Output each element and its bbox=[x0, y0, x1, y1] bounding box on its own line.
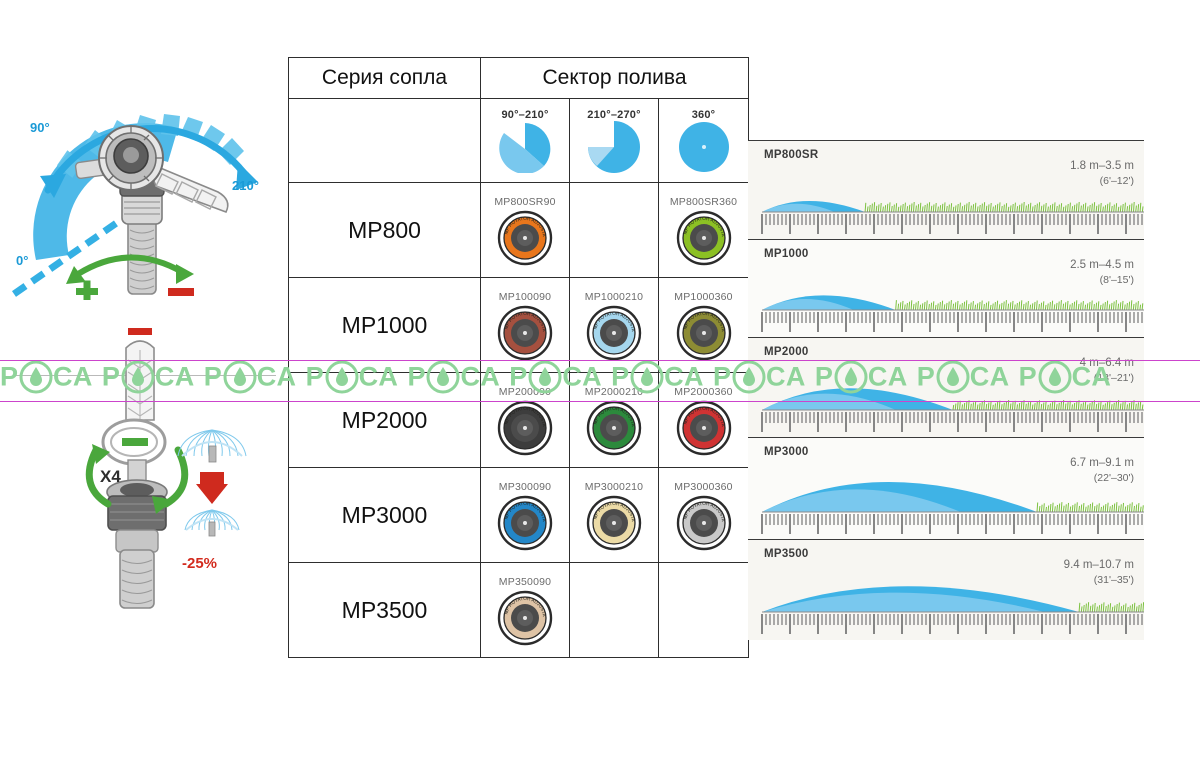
nozzle-label: MP350090 bbox=[481, 576, 569, 588]
flow-adjustment-diagram: X4 -25% bbox=[0, 320, 288, 610]
nozzle-table: Серия сопла Сектор полива 90°–210° 210°–… bbox=[288, 57, 748, 646]
sector-col-210-270: 210°–270° bbox=[570, 99, 659, 183]
nozzle-cell-mp350090[interactable]: MP350090MP ROTATOR ADJUSTABLE bbox=[481, 563, 570, 658]
table-row: MP2000MP200090MP ROTATOR ADJUSTABLEMP200… bbox=[289, 373, 749, 468]
nozzle-label: MP800SR90 bbox=[481, 196, 569, 208]
nozzle-cell-mp3000360[interactable]: MP3000360MP ROTATOR ADJUSTABLE bbox=[659, 468, 749, 563]
nozzle-cell-mp800sr90[interactable]: MP800SR90MP ROTATOR ADJUSTABLE bbox=[481, 183, 570, 278]
series-label-mp2000: MP2000 bbox=[289, 373, 481, 468]
plus-symbol bbox=[76, 281, 98, 301]
nozzle-disc-icon: MP ROTATOR ADJUSTABLE bbox=[481, 400, 569, 461]
radius-row-mp800sr: MP800SR1.8 m–3.5 m(6'–12') bbox=[748, 140, 1144, 240]
radius-row-mp1000: MP10002.5 m–4.5 m(8'–15') bbox=[748, 239, 1144, 338]
nozzle-cell-mp800sr360[interactable]: MP800SR360MP ROTATOR ADJUSTABLE bbox=[659, 183, 749, 278]
nozzle-disc-icon: MP ROTATOR ADJUSTABLE bbox=[570, 400, 658, 461]
nozzle-label: MP200090 bbox=[481, 386, 569, 398]
nozzle-label: MP3000210 bbox=[570, 481, 658, 493]
radius-row-mp3500: MP35009.4 m–10.7 m(31'–35') bbox=[748, 539, 1144, 640]
radius-profile-chart bbox=[748, 438, 1144, 540]
radius-profile-chart bbox=[748, 338, 1144, 438]
radius-row-mp3000: MP30006.7 m–9.1 m(22'–30') bbox=[748, 437, 1144, 540]
table-row: MP3000MP300090MP ROTATOR ADJUSTABLEMP300… bbox=[289, 468, 749, 563]
empty-cell bbox=[289, 99, 481, 183]
nozzle-label: MP3000360 bbox=[659, 481, 748, 493]
sector-label-210-270: 210°–270° bbox=[570, 103, 658, 121]
nozzle-cell-empty bbox=[659, 563, 749, 658]
table-row: MP3500MP350090MP ROTATOR ADJUSTABLE bbox=[289, 563, 749, 658]
radius-panel: MP800SR1.8 m–3.5 m(6'–12')MP10002.5 m–4.… bbox=[748, 140, 1152, 646]
arc-adjustment-diagram: 90° 210° 0° bbox=[0, 70, 288, 300]
nozzle-cell-mp1000210[interactable]: MP1000210MP ROTATOR ADJUSTABLE bbox=[570, 278, 659, 373]
nozzle-cell-mp200090[interactable]: MP200090MP ROTATOR ADJUSTABLE bbox=[481, 373, 570, 468]
nozzle-label: MP1000360 bbox=[659, 291, 748, 303]
nozzle-cell-mp2000210[interactable]: MP2000210MP ROTATOR ADJUSTABLE bbox=[570, 373, 659, 468]
series-label-mp800: MP800 bbox=[289, 183, 481, 278]
nozzle-cell-mp2000360[interactable]: MP2000360MP ROTATOR ADJUSTABLE bbox=[659, 373, 749, 468]
table-row: MP1000MP100090MP ROTATOR ADJUSTABLEMP100… bbox=[289, 278, 749, 373]
sector-pie-360-icon bbox=[673, 121, 735, 173]
nozzle-cell-mp100090[interactable]: MP100090MP ROTATOR ADJUSTABLE bbox=[481, 278, 570, 373]
radius-profile-chart bbox=[748, 240, 1144, 338]
radius-row-mp2000: MP20004 m–6.4 m(13'–21') bbox=[748, 337, 1144, 438]
nozzle-label: MP800SR360 bbox=[659, 196, 748, 208]
turns-label: X4 bbox=[100, 467, 121, 486]
nozzle-disc-icon: MP ROTATOR ADJUSTABLE bbox=[659, 305, 748, 366]
nozzle-disc-icon: MP ROTATOR ADJUSTABLE bbox=[481, 210, 569, 271]
series-label-mp3500: MP3500 bbox=[289, 563, 481, 658]
nozzle-cell-empty bbox=[570, 563, 659, 658]
spray-after bbox=[185, 510, 239, 536]
sector-col-360: 360° bbox=[659, 99, 749, 183]
sector-label-90-210: 90°–210° bbox=[481, 103, 569, 121]
nozzle-disc-icon: MP ROTATOR ADJUSTABLE bbox=[570, 495, 658, 556]
nozzle-disc-icon: MP ROTATOR ADJUSTABLE bbox=[481, 305, 569, 366]
nozzle-label: MP300090 bbox=[481, 481, 569, 493]
nozzle-label: MP1000210 bbox=[570, 291, 658, 303]
radius-profile-chart bbox=[748, 540, 1144, 640]
sector-label-360: 360° bbox=[659, 103, 748, 121]
nozzle-label: MP100090 bbox=[481, 291, 569, 303]
nozzle-disc-icon: MP ROTATOR ADJUSTABLE bbox=[481, 590, 569, 651]
nozzle-disc-icon: MP ROTATOR ADJUSTABLE bbox=[481, 495, 569, 556]
arc-label-0: 0° bbox=[16, 253, 28, 268]
series-label-mp1000: MP1000 bbox=[289, 278, 481, 373]
series-label-mp3000: MP3000 bbox=[289, 468, 481, 563]
watermark-line-bottom bbox=[0, 401, 1200, 402]
nozzle-label: MP2000360 bbox=[659, 386, 748, 398]
nozzle-cell-mp1000360[interactable]: MP1000360MP ROTATOR ADJUSTABLE bbox=[659, 278, 749, 373]
nozzle-cell-mp300090[interactable]: MP300090MP ROTATOR ADJUSTABLE bbox=[481, 468, 570, 563]
decrease-arrow bbox=[196, 472, 228, 504]
header-sector: Сектор полива bbox=[481, 58, 749, 99]
nozzle-disc-icon: MP ROTATOR ADJUSTABLE bbox=[659, 400, 748, 461]
header-series: Серия сопла bbox=[289, 58, 481, 99]
sector-pie-90-210-icon bbox=[494, 121, 556, 173]
reduction-label: -25% bbox=[182, 555, 217, 572]
sector-pie-210-270-icon bbox=[583, 121, 645, 173]
table-row: MP800MP800SR90MP ROTATOR ADJUSTABLEMP800… bbox=[289, 183, 749, 278]
nozzle-disc-icon: MP ROTATOR ADJUSTABLE bbox=[659, 210, 748, 271]
left-illustrations-panel: 90° 210° 0° bbox=[0, 70, 288, 630]
nozzle-cell-empty bbox=[570, 183, 659, 278]
radius-profile-chart bbox=[748, 141, 1144, 240]
spray-before bbox=[178, 430, 246, 462]
sector-col-90-210: 90°–210° bbox=[481, 99, 570, 183]
sector-header-row: 90°–210° 210°–270° 360° bbox=[289, 99, 749, 183]
watermark-line-top bbox=[0, 360, 1200, 361]
minus-symbol-top bbox=[128, 328, 152, 335]
arc-label-90: 90° bbox=[30, 120, 50, 135]
nozzle-label: MP2000210 bbox=[570, 386, 658, 398]
arc-label-210: 210° bbox=[232, 178, 259, 193]
nozzle-cell-mp3000210[interactable]: MP3000210MP ROTATOR ADJUSTABLE bbox=[570, 468, 659, 563]
nozzle-disc-icon: MP ROTATOR ADJUSTABLE bbox=[570, 305, 658, 366]
table-header-row: Серия сопла Сектор полива bbox=[289, 58, 749, 99]
nozzle-disc-icon: MP ROTATOR ADJUSTABLE bbox=[659, 495, 748, 556]
minus-symbol bbox=[168, 288, 194, 296]
